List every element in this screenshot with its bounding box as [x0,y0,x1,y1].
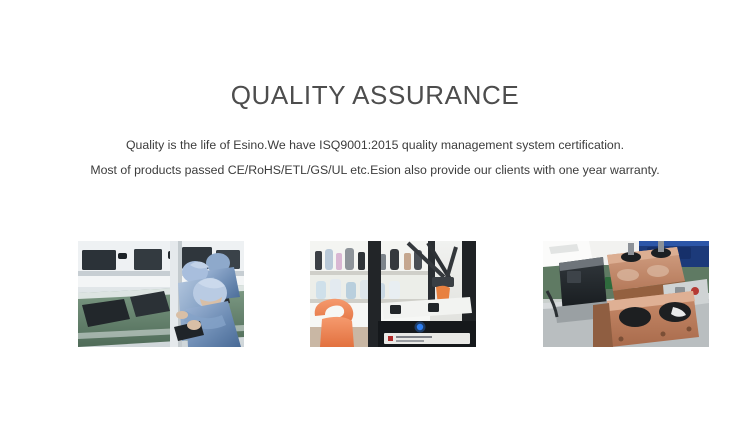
page-title: QUALITY ASSURANCE [0,80,750,111]
intro-line-1: Quality is the life of Esino.We have ISQ… [0,133,750,158]
copper-mold-illustration [543,241,709,347]
photo-gallery [0,241,750,347]
quality-assurance-section: QUALITY ASSURANCE Quality is the life of… [0,0,750,437]
photo-assembly-line-workers [78,241,244,347]
3d-printer-illustration [310,241,476,347]
intro-paragraph: Quality is the life of Esino.We have ISQ… [0,133,750,183]
photo-3d-printer-workshop [310,241,476,347]
assembly-line-illustration [78,241,244,347]
intro-line-2: Most of products passed CE/RoHS/ETL/GS/U… [0,158,750,183]
photo-copper-mold-tooling [543,241,709,347]
